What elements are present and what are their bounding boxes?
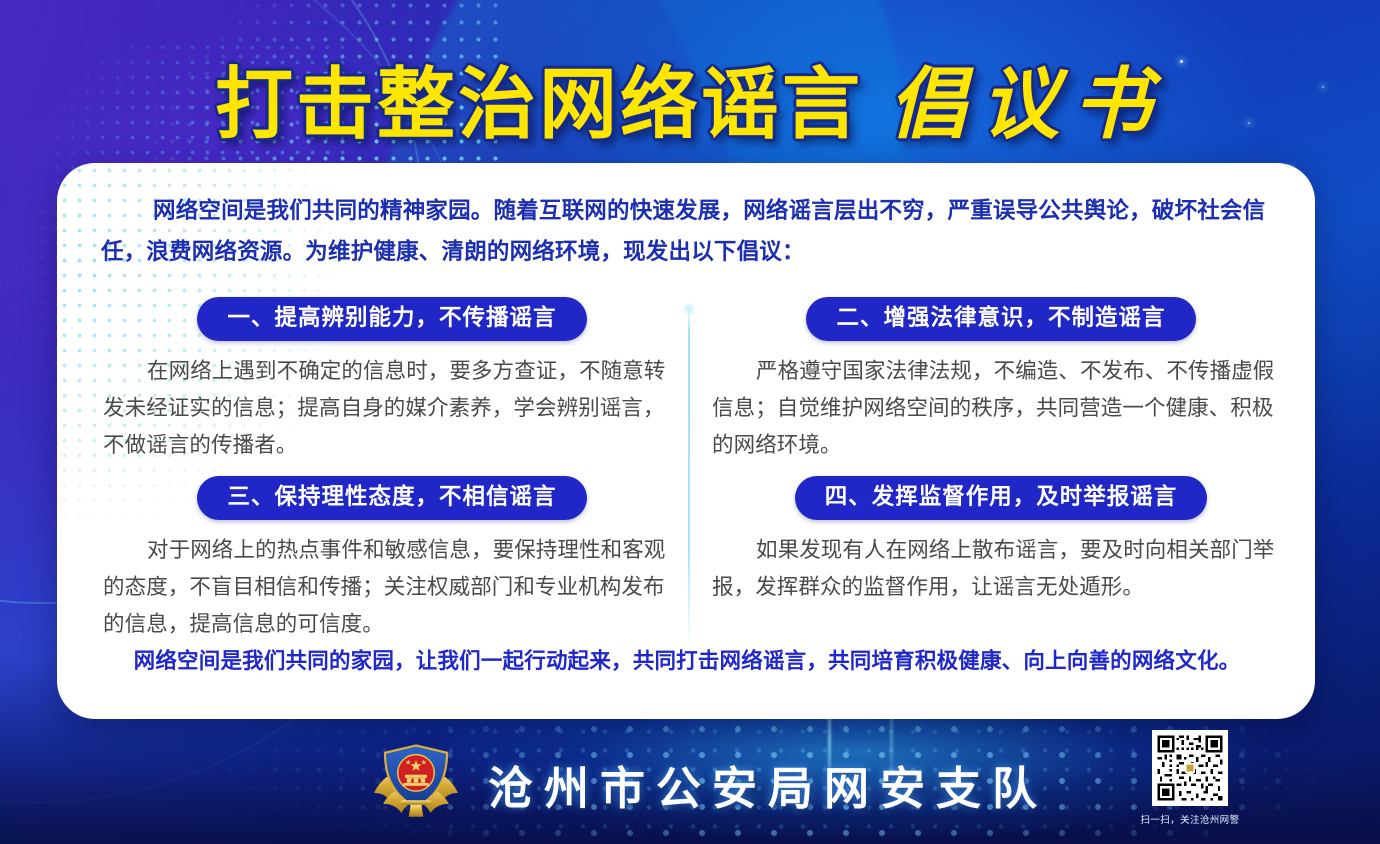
intro-paragraph: 网络空间是我们共同的精神家园。随着互联网的快速发展，网络谣言层出不穷，严重误导公…	[101, 191, 1271, 273]
section-4-heading[interactable]: 四、发挥监督作用，及时举报谣言	[795, 476, 1208, 520]
section-1: 一、提高辨别能力，不传播谣言 在网络上遇到不确定的信息时，要多方查证，不随意转发…	[103, 297, 681, 464]
organization-name: 沧州市公安局网安支队	[488, 752, 1048, 817]
qr-caption: 扫一扫，关注沧州网警	[1122, 812, 1258, 826]
column-divider-cap-icon	[683, 303, 695, 315]
section-2-body: 严格遵守国家法律法规，不编造、不发布、不传播虚假信息；自觉维护网络空间的秩序，共…	[712, 353, 1290, 464]
qr-block: 扫一扫，关注沧州网警	[1122, 730, 1258, 826]
section-2-heading[interactable]: 二、增强法律意识，不制造谣言	[806, 297, 1195, 341]
column-right-lower: 四、发挥监督作用，及时举报谣言 如果发现有人在网络上散布谣言，要及时向相关部门举…	[712, 476, 1290, 606]
closing-statement: 网络空间是我们共同的家园，让我们一起行动起来，共同打击网络谣言，共同培育积极健康…	[97, 644, 1277, 675]
section-3-body: 对于网络上的热点事件和敏感信息，要保持理性和客观的态度，不盲目相信和传播；关注权…	[103, 532, 681, 643]
section-4-body: 如果发现有人在网络上散布谣言，要及时向相关部门举报，发挥群众的监督作用，让谣言无…	[712, 532, 1290, 606]
poster-canvas: 打击整治网络谣言倡议书 网络空间是我们共同的精神家园。随着互联网的快速发展，网络…	[0, 0, 1380, 844]
column-divider	[688, 305, 690, 647]
title-main-text: 打击整治网络谣言	[215, 42, 863, 154]
section-1-heading[interactable]: 一、提高辨别能力，不传播谣言	[197, 297, 586, 341]
column-right: 二、增强法律意识，不制造谣言 严格遵守国家法律法规，不编造、不发布、不传播虚假信…	[712, 297, 1290, 464]
police-emblem-icon	[370, 740, 462, 824]
poster-title: 打击整治网络谣言倡议书	[0, 42, 1380, 154]
section-4: 四、发挥监督作用，及时举报谣言 如果发现有人在网络上散布谣言，要及时向相关部门举…	[712, 476, 1290, 606]
column-left-lower: 三、保持理性态度，不相信谣言 对于网络上的热点事件和敏感信息，要保持理性和客观的…	[103, 476, 681, 643]
content-card: 网络空间是我们共同的精神家园。随着互联网的快速发展，网络谣言层出不穷，严重误导公…	[57, 163, 1315, 719]
section-2: 二、增强法律意识，不制造谣言 严格遵守国家法律法规，不编造、不发布、不传播虚假信…	[712, 297, 1290, 464]
column-left: 一、提高辨别能力，不传播谣言 在网络上遇到不确定的信息时，要多方查证，不随意转发…	[103, 297, 681, 464]
section-3-heading[interactable]: 三、保持理性态度，不相信谣言	[197, 476, 586, 520]
section-1-body: 在网络上遇到不确定的信息时，要多方查证，不随意转发未经证实的信息；提高自身的媒介…	[103, 353, 681, 464]
title-sub-text: 倡议书	[889, 42, 1165, 154]
section-3: 三、保持理性态度，不相信谣言 对于网络上的热点事件和敏感信息，要保持理性和客观的…	[103, 476, 681, 643]
qr-code-icon[interactable]	[1152, 730, 1228, 806]
